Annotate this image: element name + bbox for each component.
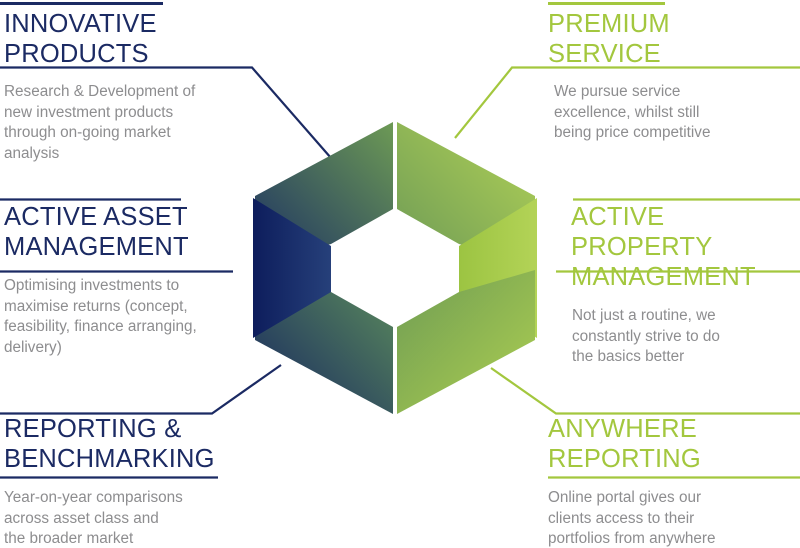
block-premium-service: PREMIUM SERVICE We pursue service excell… bbox=[496, 4, 796, 144]
body-anywhere-reporting: Online portal gives our clients access t… bbox=[548, 488, 796, 548]
heading-reporting-benchmarking: REPORTING & BENCHMARKING bbox=[4, 414, 304, 474]
body-active-property-management: Not just a routine, we constantly strive… bbox=[572, 306, 800, 368]
body-reporting-benchmarking: Year-on-year comparisons across asset cl… bbox=[4, 488, 304, 548]
body-innovative-products: Research & Development of new investment… bbox=[4, 82, 304, 164]
body-active-asset-management: Optimising investments to maximise retur… bbox=[4, 276, 304, 358]
infographic-canvas: INNOVATIVE PRODUCTS Research & Developme… bbox=[0, 0, 800, 548]
block-anywhere-reporting: ANYWHERE REPORTING Online portal gives o… bbox=[496, 408, 796, 548]
heading-premium-service: PREMIUM SERVICE bbox=[548, 9, 796, 69]
heading-active-property-management: ACTIVE PROPERTY MANAGEMENT bbox=[571, 202, 800, 292]
heading-innovative-products: INNOVATIVE PRODUCTS bbox=[4, 9, 304, 69]
block-innovative-products: INNOVATIVE PRODUCTS Research & Developme… bbox=[4, 4, 304, 164]
block-active-property-management: ACTIVE PROPERTY MANAGEMENT Not just a ro… bbox=[496, 196, 800, 368]
heading-active-asset-management: ACTIVE ASSET MANAGEMENT bbox=[4, 202, 304, 262]
connector-reporting-benchmarking bbox=[0, 365, 281, 414]
block-reporting-benchmarking: REPORTING & BENCHMARKING Year-on-year co… bbox=[4, 408, 304, 548]
body-premium-service: We pursue service excellence, whilst sti… bbox=[548, 82, 796, 144]
heading-anywhere-reporting: ANYWHERE REPORTING bbox=[548, 414, 796, 474]
block-active-asset-management: ACTIVE ASSET MANAGEMENT Optimising inves… bbox=[4, 196, 304, 358]
